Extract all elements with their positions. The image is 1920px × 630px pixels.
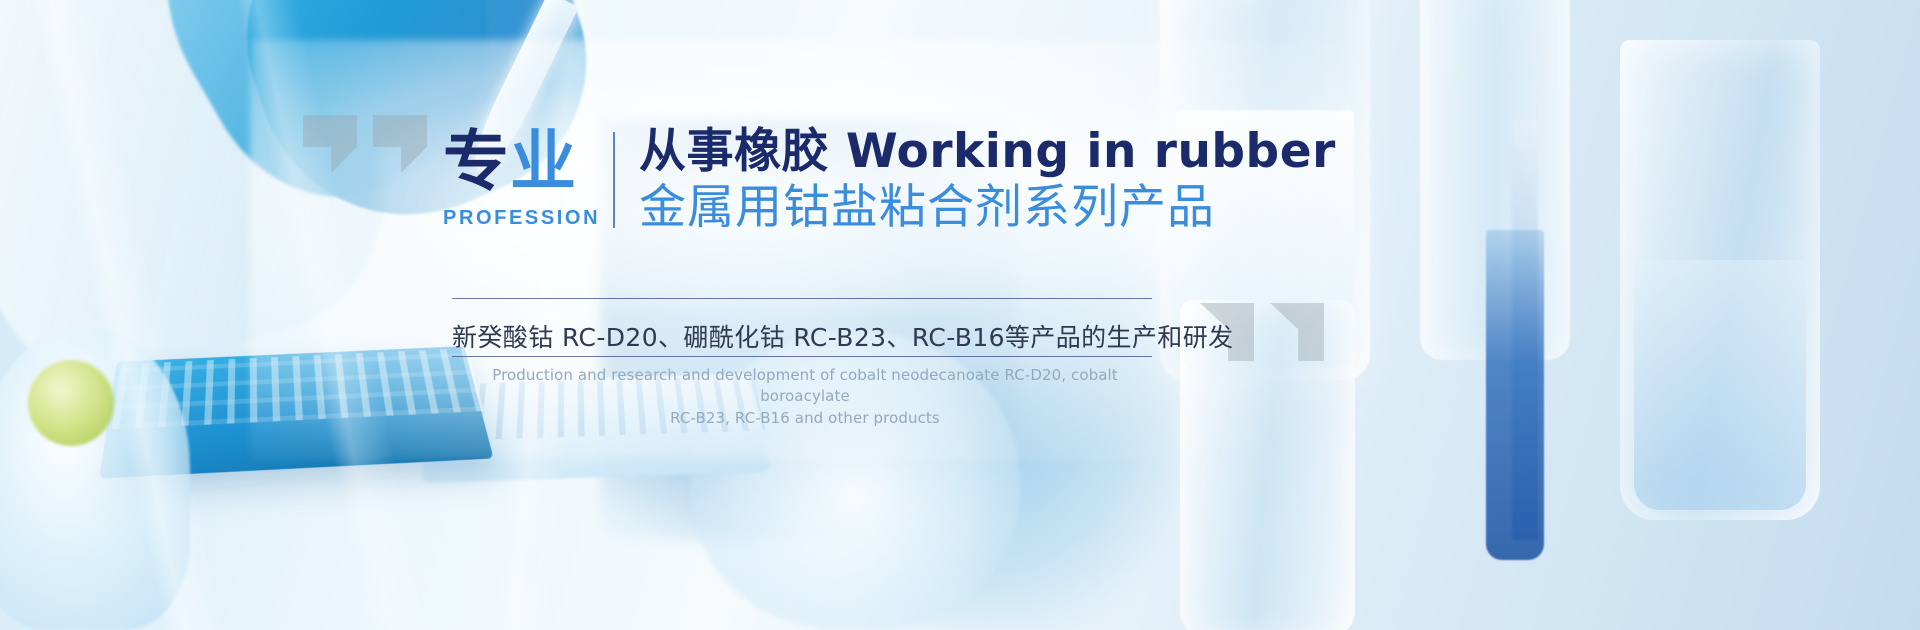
profession-logo: 专业 PROFESSION [443,126,593,230]
profession-logo-en: PROFESSION [443,207,593,230]
vertical-divider [613,132,615,228]
description-en-line-1: Production and research and development … [452,365,1158,408]
profession-logo-cn: 专业 [443,130,593,193]
description-en-line-2: RC-B23, RC-B16 and other products [452,408,1158,429]
headline-line-1: 从事橡胶 Working in rubber [639,126,1336,178]
description-en-block: Production and research and development … [452,365,1158,429]
logo-char-zhuan: 专 [443,123,510,200]
hero-banner: 专业 PROFESSION 从事橡胶 Working in rubber 金属用… [0,0,1920,630]
banner-content: 专业 PROFESSION 从事橡胶 Working in rubber 金属用… [0,0,1920,630]
divider-below-subtitle [452,356,1152,357]
hero-row: 专业 PROFESSION 从事橡胶 Working in rubber 金属用… [443,126,1336,234]
divider-above-subtitle [452,298,1152,299]
subtitle-cn: 新癸酸钴 RC-D20、硼酰化钴 RC-B23、RC-B16等产品的生产和研发 [452,318,1158,354]
headline-block: 从事橡胶 Working in rubber 金属用钴盐粘合剂系列产品 [639,126,1336,234]
logo-char-ye: 业 [510,123,577,200]
headline-line-2: 金属用钴盐粘合剂系列产品 [639,182,1336,235]
